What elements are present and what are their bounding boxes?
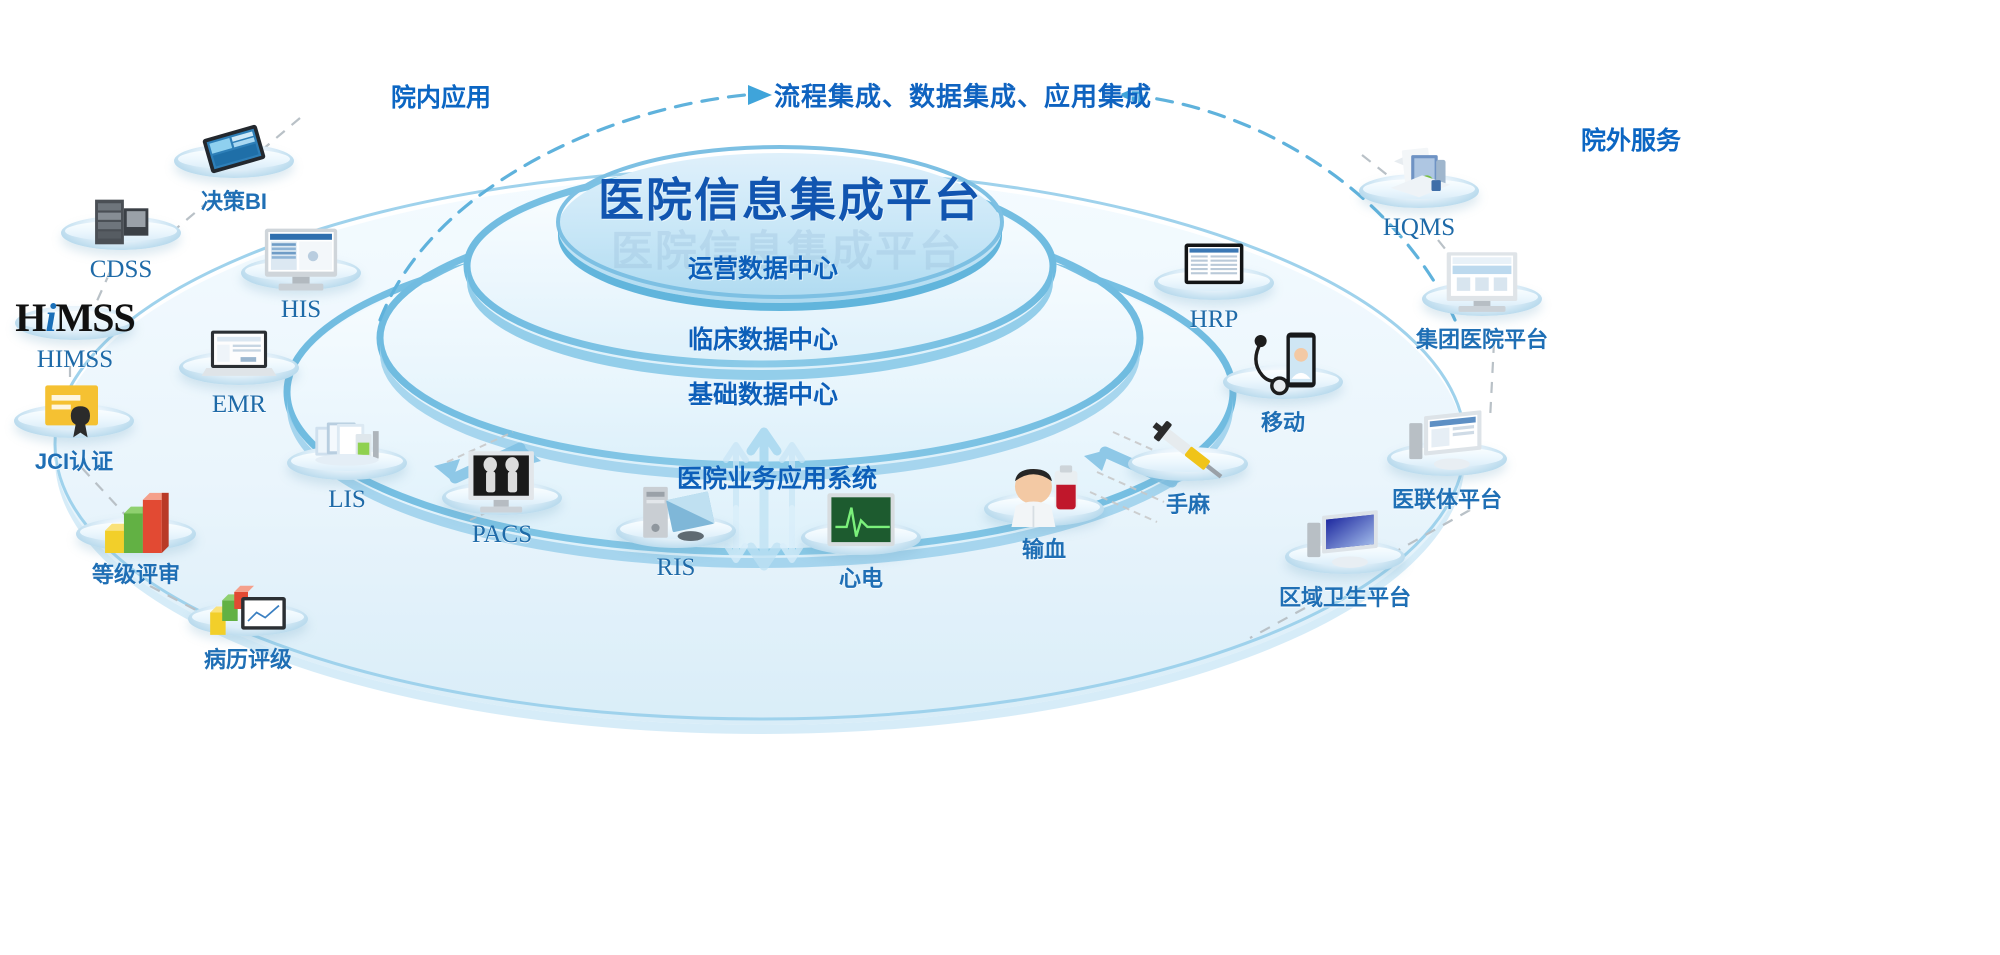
- platform-title: 医院信息集成平台: [598, 164, 982, 230]
- node-emr[interactable]: EMR: [179, 351, 299, 419]
- node-pedestal-bi: [174, 144, 294, 178]
- node-anes[interactable]: 手麻: [1128, 447, 1248, 519]
- node-pedestal-emr: [179, 351, 299, 385]
- node-label-jci: JCI认证: [14, 444, 134, 476]
- node-label-ecg: 心电: [801, 561, 921, 593]
- node-region[interactable]: 区域卫生平台: [1279, 540, 1411, 612]
- node-pedestal-union: [1387, 442, 1507, 476]
- node-pedestal-grade: [76, 517, 196, 551]
- node-pedestal-cdss: [61, 216, 181, 250]
- node-emrrt[interactable]: 病历评级: [188, 602, 308, 674]
- node-union[interactable]: 医联体平台: [1387, 442, 1507, 514]
- node-his[interactable]: HIS: [241, 256, 361, 324]
- node-label-hqms: HQMS: [1359, 214, 1479, 242]
- ring-label-basic: 基础数据中心: [688, 375, 838, 411]
- node-pedestal-ris: [616, 514, 736, 548]
- node-bi[interactable]: 决策BI: [174, 144, 294, 216]
- node-pedestal-blood: [984, 492, 1104, 526]
- node-label-himss: HIMSS: [15, 346, 135, 374]
- node-pedestal-lis: [287, 446, 407, 480]
- node-pedestal-grouphp: [1422, 282, 1542, 316]
- ring-label-operational: 运营数据中心: [688, 249, 838, 285]
- node-ecg[interactable]: 心电: [801, 521, 921, 593]
- node-label-ris: RIS: [616, 554, 736, 582]
- node-pedestal-pacs: [442, 481, 562, 515]
- node-label-blood: 输血: [984, 532, 1104, 564]
- node-pedestal-hqms: [1359, 174, 1479, 208]
- node-label-region: 区域卫生平台: [1279, 580, 1411, 612]
- diagram-canvas: 流程集成、数据集成、应用集成 院内应用 院外服务 医院信息集成平台 医院信息集成…: [0, 0, 2000, 955]
- group-label-outside: 院外服务: [1581, 121, 1681, 157]
- node-grouphp[interactable]: 集团医院平台: [1416, 282, 1548, 354]
- node-hqms[interactable]: HQMS: [1359, 174, 1479, 242]
- node-label-hrp: HRP: [1154, 306, 1274, 334]
- business-system-label: 医院业务应用系统: [677, 459, 877, 495]
- node-label-cdss: CDSS: [61, 256, 181, 284]
- node-label-bi: 决策BI: [174, 184, 294, 216]
- node-pacs[interactable]: PACS: [442, 481, 562, 549]
- node-label-emr: EMR: [179, 391, 299, 419]
- node-label-grade: 等级评审: [76, 557, 196, 589]
- node-hrp[interactable]: HRP: [1154, 266, 1274, 334]
- node-pedestal-emrrt: [188, 602, 308, 636]
- node-label-anes: 手麻: [1128, 487, 1248, 519]
- integration-banner-text: 流程集成、数据集成、应用集成: [774, 77, 1152, 114]
- node-pedestal-region: [1285, 540, 1405, 574]
- node-label-union: 医联体平台: [1387, 482, 1507, 514]
- node-pedestal-hrp: [1154, 266, 1274, 300]
- node-label-emrrt: 病历评级: [188, 642, 308, 674]
- node-pedestal-mob: [1223, 365, 1343, 399]
- node-ris[interactable]: RIS: [616, 514, 736, 582]
- node-cdss[interactable]: CDSS: [61, 216, 181, 284]
- node-label-pacs: PACS: [442, 521, 562, 549]
- node-label-his: HIS: [241, 296, 361, 324]
- ring-label-clinical: 临床数据中心: [688, 320, 838, 356]
- node-label-grouphp: 集团医院平台: [1416, 322, 1548, 354]
- node-pedestal-himss: HiMSS: [15, 306, 135, 340]
- node-grade[interactable]: 等级评审: [76, 517, 196, 589]
- node-mob[interactable]: 移动: [1223, 365, 1343, 437]
- node-pedestal-ecg: [801, 521, 921, 555]
- node-pedestal-anes: [1128, 447, 1248, 481]
- node-pedestal-jci: [14, 404, 134, 438]
- node-jci[interactable]: JCI认证: [14, 404, 134, 476]
- node-himss[interactable]: HiMSSHIMSS: [15, 306, 135, 374]
- node-lis[interactable]: LIS: [287, 446, 407, 514]
- node-blood[interactable]: 输血: [984, 492, 1104, 564]
- group-label-inside: 院内应用: [391, 78, 491, 114]
- node-label-mob: 移动: [1223, 405, 1343, 437]
- node-pedestal-his: [241, 256, 361, 290]
- node-label-lis: LIS: [287, 486, 407, 514]
